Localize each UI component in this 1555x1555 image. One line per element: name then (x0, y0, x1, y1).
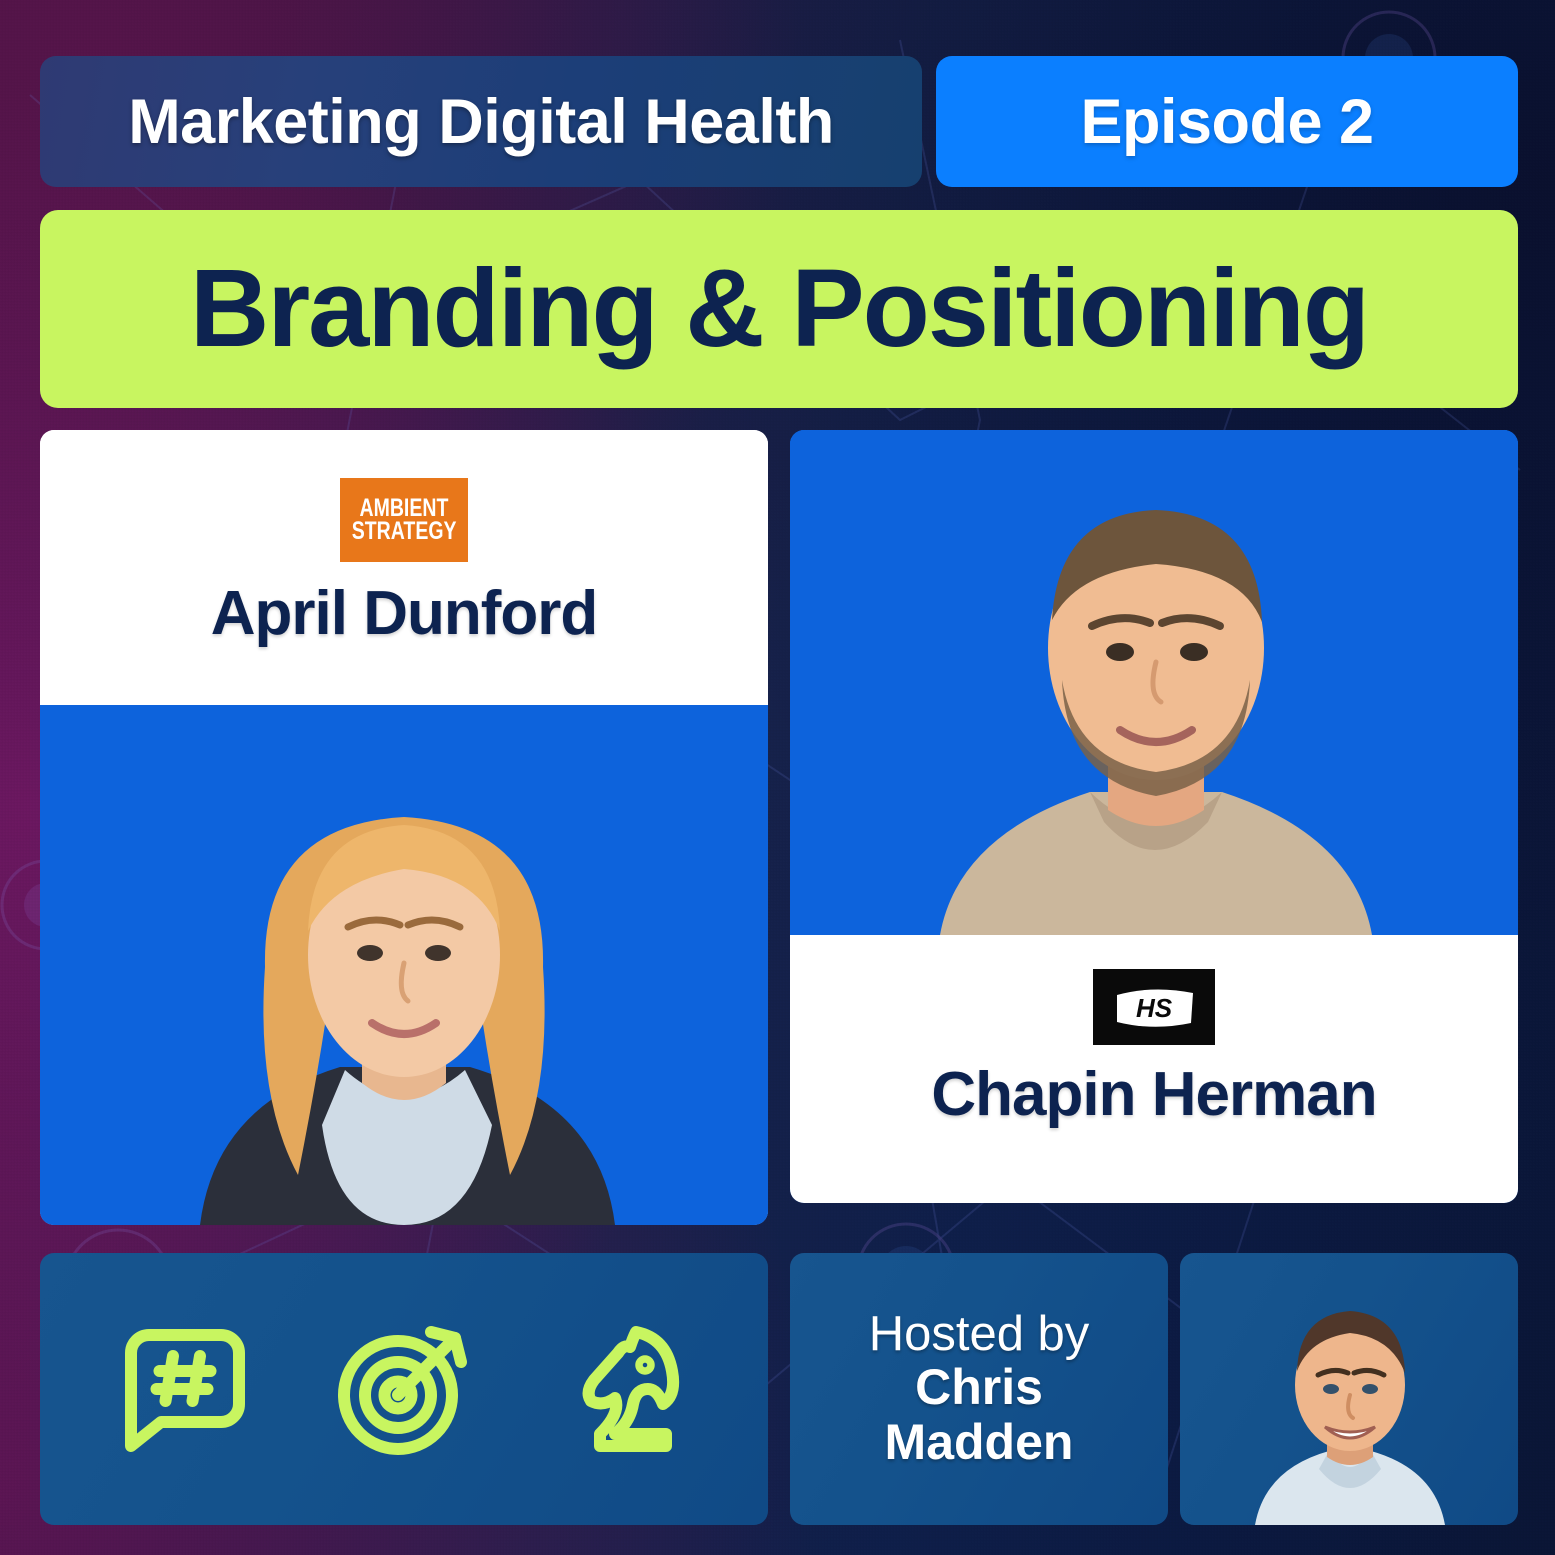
guest-name-right: Chapin Herman (931, 1059, 1376, 1130)
host-name-line2: Madden (885, 1415, 1074, 1470)
guest-name-left: April Dunford (211, 578, 598, 649)
hs-logo-text: HS (1136, 993, 1173, 1023)
show-title: Marketing Digital Health (128, 86, 834, 158)
guest-card-april-dunford: AMBIENT STRATEGY April Dunford (40, 430, 768, 1225)
hashtag-speech-bubble-icon (110, 1314, 260, 1464)
guest-info-right: HS Chapin Herman (790, 935, 1518, 1203)
episode-title-band: Branding & Positioning (40, 210, 1518, 408)
host-name-line1: Chris (915, 1360, 1043, 1415)
episode-title: Branding & Positioning (190, 254, 1368, 364)
hs-logo-mark: HS (1093, 969, 1215, 1045)
episode-number-pill: Episode 2 (936, 56, 1518, 187)
chess-knight-icon (549, 1314, 699, 1464)
target-arrow-icon (329, 1314, 479, 1464)
topic-icons-card (40, 1253, 768, 1525)
guest-card-chapin-herman: HS Chapin Herman (790, 430, 1518, 1203)
show-title-pill: Marketing Digital Health (40, 56, 922, 187)
host-photo-card (1180, 1253, 1518, 1525)
episode-label: Episode 2 (1080, 86, 1373, 158)
chapin-herman-portrait (790, 430, 1518, 935)
host-card: Hosted by Chris Madden (790, 1253, 1168, 1525)
podcast-episode-graphic: Marketing Digital Health Episode 2 Brand… (0, 0, 1555, 1555)
ambient-logo-line2: STRATEGY (352, 520, 457, 543)
hosted-by-label: Hosted by (869, 1308, 1090, 1361)
ambient-strategy-logo: AMBIENT STRATEGY (340, 478, 468, 562)
chris-madden-portrait (1219, 1293, 1479, 1525)
guest-info-left: AMBIENT STRATEGY April Dunford (40, 430, 768, 705)
april-dunford-portrait (40, 705, 768, 1225)
guest-photo-right (790, 430, 1518, 935)
guest-photo-left (40, 705, 768, 1225)
hs-logo: HS (1093, 969, 1215, 1045)
